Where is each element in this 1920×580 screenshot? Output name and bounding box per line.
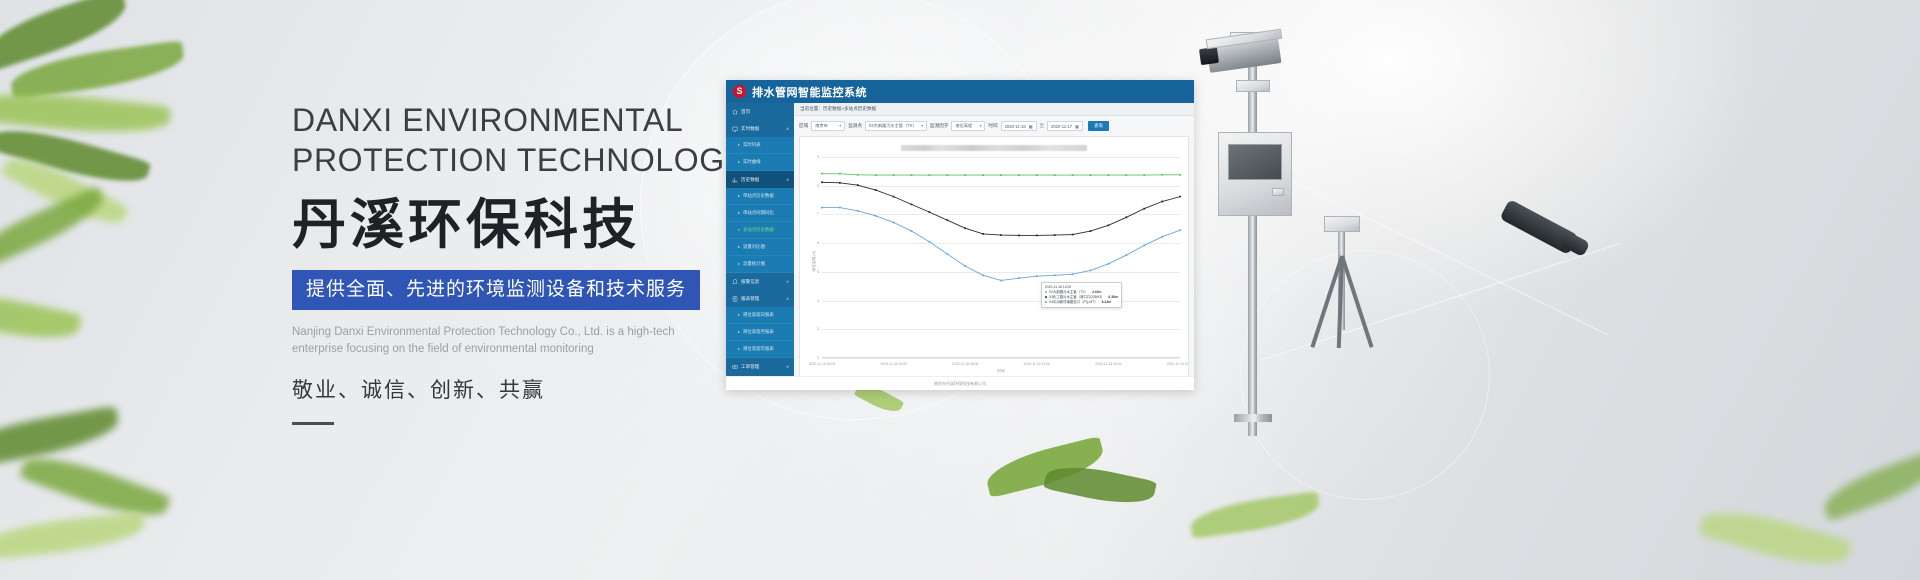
app-title: 排水管网智能监控系统 <box>752 84 867 100</box>
hero-tagline-banner: 提供全面、先进的环境监测设备和技术服务 <box>292 270 700 310</box>
sidebar-label: 报警信息 <box>741 279 759 285</box>
end-date-input[interactable]: 2020-11-17 ▦ <box>1047 121 1083 131</box>
calendar-icon: ▦ <box>1075 124 1079 129</box>
tooltip-row: 04中洲新村南路支口（PQ,MT）8.43m <box>1045 300 1118 305</box>
chart-data-point <box>1143 174 1145 176</box>
chart-data-point <box>911 174 913 176</box>
chart-data-point <box>964 174 966 176</box>
chart-y-tick-label: 5 <box>817 270 819 274</box>
chart-series-layer <box>822 157 1180 358</box>
chart-data-point <box>1125 216 1127 218</box>
tripod-leg <box>1340 255 1373 348</box>
chart-data-point <box>1000 174 1002 176</box>
station-label: 监测点 <box>848 123 862 129</box>
chart-data-point <box>1054 274 1056 276</box>
chart-data-point <box>1108 174 1110 176</box>
chart-data-point <box>1161 236 1163 238</box>
factor-value: 液位高程 <box>955 123 972 129</box>
chart-data-point <box>1072 234 1074 236</box>
chart-data-point <box>1018 234 1020 236</box>
chart-plot-area: 时间 234567892020-11-16 00:002020-11-16 04… <box>822 157 1180 358</box>
breadcrumb: 当前位置：历史数据>多站点历史数据 <box>794 103 1194 116</box>
calendar-icon: ▦ <box>1029 124 1033 129</box>
chart-data-point <box>1036 234 1038 236</box>
monitor-icon <box>732 126 738 132</box>
chart-data-point <box>982 233 984 235</box>
chart-data-point <box>1018 277 1020 279</box>
tooltip-series-dot <box>1045 291 1047 293</box>
chart-data-point <box>857 184 859 186</box>
sidebar-label: 历史数据 <box>741 177 759 183</box>
start-date-input[interactable]: 2020-11-16 ▦ <box>1001 121 1037 131</box>
chart-data-point <box>1036 275 1038 277</box>
hero-copy: DANXI ENVIRONMENTAL PROTECTION TECHNOLOG… <box>292 100 712 425</box>
chart-x-tick-label: 2020-11-16 16:00 <box>1095 362 1122 366</box>
chart-data-point <box>1161 201 1163 203</box>
time-label: 时间 <box>988 123 997 129</box>
chart-data-point <box>1054 234 1056 236</box>
chart-data-point <box>929 211 931 213</box>
sidebar-item-realtime-curve[interactable]: 实时曲线 <box>726 154 794 171</box>
bullet-icon <box>738 195 740 197</box>
chart-line-6aa8d8 <box>822 208 1180 281</box>
danxi-logo-icon: S <box>733 85 746 98</box>
chart-data-point <box>911 230 913 232</box>
chart-data-point <box>821 207 823 209</box>
sidebar-label: 流量对比图 <box>743 244 765 250</box>
chart-data-point <box>1143 245 1145 247</box>
chart-data-point <box>1072 273 1074 275</box>
chart-data-point <box>1125 174 1127 176</box>
factor-select[interactable]: 液位高程 ▾ <box>951 121 985 131</box>
chart-data-point <box>875 189 877 191</box>
region-value: 南京市 <box>815 123 828 129</box>
chart-data-point <box>893 222 895 224</box>
bullet-icon <box>738 263 740 265</box>
chart-data-point <box>946 174 948 176</box>
equipment-mast <box>1248 56 1257 436</box>
chevron-down-icon: ∨ <box>786 279 789 284</box>
tooltip-series-name: 04中洲新村南路支口（PQ,MT） <box>1049 300 1097 305</box>
bullet-icon <box>738 212 740 214</box>
chart-data-point <box>1161 174 1163 176</box>
sidebar-item-single-station-history[interactable]: 单站点历史数据 <box>726 188 794 205</box>
chart-data-point <box>929 174 931 176</box>
chart-data-point <box>964 265 966 267</box>
chart-x-axis-label: 时间 <box>997 369 1004 374</box>
chart-data-point <box>1108 224 1110 226</box>
sidebar-item-level-monthly-report[interactable]: 液位高程月报表 <box>726 324 794 341</box>
chart-data-point <box>1108 263 1110 265</box>
chart-tooltip: 2020-11-16 12:0002大新路污水主管（TX）4.42m03化工路污… <box>1041 282 1122 308</box>
sidebar-label: 报表管理 <box>741 296 759 302</box>
station-select[interactable]: 02大新路污水主管（TX） ▾ <box>865 121 927 131</box>
chart-data-point <box>821 173 823 175</box>
chart-x-tick-label: 2020-11-16 04:00 <box>880 362 907 366</box>
hero-divider-rule <box>292 422 334 425</box>
chart-data-point <box>1179 196 1181 198</box>
chart-data-point <box>1000 280 1002 282</box>
app-footer: 南京市丹溪环保科技有限公司 <box>726 376 1194 390</box>
sidebar-label: 多站点历史数据 <box>743 227 774 233</box>
sidebar-item-realtime-data[interactable]: 实时数据 ∧ <box>726 120 794 137</box>
chart-data-point <box>1090 174 1092 176</box>
sidebar-label: 液位高程月报表 <box>743 329 774 335</box>
report-icon <box>732 296 738 302</box>
chevron-down-icon: ▾ <box>839 124 841 128</box>
chevron-up-icon: ∧ <box>786 126 789 131</box>
sidebar-label: 单站点历史数据 <box>743 193 774 199</box>
chart-data-point <box>821 181 823 183</box>
chart-data-point <box>946 253 948 255</box>
mast-base <box>1234 414 1272 422</box>
chevron-up-icon: ∧ <box>786 296 789 301</box>
hero-chinese-title: 丹溪环保科技 <box>292 194 712 256</box>
chart-data-point <box>1090 230 1092 232</box>
chart-data-point <box>946 219 948 221</box>
bell-icon <box>732 279 738 285</box>
chart-y-tick-label: 7 <box>817 212 819 216</box>
chart-data-point <box>1090 270 1092 272</box>
sidebar-item-report-management[interactable]: 报表管理 ∧ <box>726 290 794 307</box>
search-button[interactable]: 查询 <box>1088 121 1109 131</box>
sidebar-item-work-order[interactable]: 工单管理 ∨ <box>726 358 794 375</box>
hero-english-paragraph: Nanjing Danxi Environmental Protection T… <box>292 324 682 358</box>
chart-data-point <box>875 215 877 217</box>
chart-x-tick-label: 2020-11-16 20:00 <box>1167 362 1189 366</box>
sidebar-label: 单站点同期同比 <box>743 210 774 216</box>
chart-data-point <box>964 227 966 229</box>
chart-y-tick-label: 2 <box>817 356 819 360</box>
chart-gridline: 2 <box>822 358 1180 359</box>
chevron-down-icon: ▾ <box>980 124 982 128</box>
date-separator: 至 <box>1040 123 1044 129</box>
sidebar-label: 实时数据 <box>741 126 759 132</box>
chart-data-point <box>893 196 895 198</box>
start-date-value: 2020-11-16 <box>1005 124 1026 129</box>
chart-y-tick-label: 8 <box>817 184 819 188</box>
sidebar-item-level-daily-report[interactable]: 液位高程日报表 <box>726 307 794 324</box>
sidebar-label: 液位高程年报表 <box>743 346 774 352</box>
home-icon <box>732 109 738 115</box>
chart-data-point <box>1179 229 1181 231</box>
bullet-icon <box>738 161 740 163</box>
app-content: 当前位置：历史数据>多站点历史数据 区域 南京市 ▾ 监测点 02大新路污水主管… <box>794 103 1194 390</box>
chart-data-point <box>893 174 895 176</box>
chart-icon <box>732 177 738 183</box>
tooltip-series-dot <box>1045 296 1047 298</box>
bullet-icon <box>738 314 740 316</box>
hero-slogan: 敬业、诚信、创新、共赢 <box>292 374 712 404</box>
chevron-down-icon: ▾ <box>921 124 923 128</box>
bullet-icon <box>738 229 740 231</box>
chart-title-redacted <box>901 145 1087 151</box>
chart-data-point <box>875 174 877 176</box>
chart-data-point <box>1143 208 1145 210</box>
mast-bracket-mid <box>1236 80 1270 92</box>
hero-english-line1: DANXI ENVIRONMENTAL <box>292 100 712 140</box>
chart-data-point <box>839 173 841 175</box>
region-select[interactable]: 南京市 ▾ <box>811 121 845 131</box>
tripod-head <box>1324 216 1360 232</box>
sidebar-item-history-data[interactable]: 历史数据 ∧ <box>726 171 794 188</box>
chart-data-point <box>857 174 859 176</box>
sidebar-label: 首页 <box>741 109 750 115</box>
sidebar-item-level-yearly-report[interactable]: 液位高程年报表 <box>726 341 794 358</box>
chart-data-point <box>839 207 841 209</box>
chart-data-point <box>1036 174 1038 176</box>
sidebar-item-multi-station-history[interactable]: 多站点历史数据 <box>726 222 794 239</box>
station-value: 02大新路污水主管（TX） <box>869 123 917 129</box>
sidebar-label: 实时列表 <box>743 142 761 148</box>
sidebar-label: 流量统计图 <box>743 261 765 267</box>
chart-y-axis-label: 液位高程(m) <box>812 250 817 271</box>
chart-data-point <box>982 274 984 276</box>
enclosure-display-screen <box>1228 144 1282 180</box>
chart-data-point <box>1000 234 1002 236</box>
chart-data-point <box>1018 174 1020 176</box>
sidebar-item-single-station-yoy[interactable]: 单站点同期同比 <box>726 205 794 222</box>
chart-data-point <box>857 210 859 212</box>
chevron-down-icon: ∨ <box>786 364 789 369</box>
hero-english-line2: PROTECTION TECHNOLOGY <box>292 140 712 180</box>
filter-toolbar: 区域 南京市 ▾ 监测点 02大新路污水主管（TX） ▾ 监测因子 液位高程 ▾… <box>794 116 1194 136</box>
chart-data-point <box>1072 174 1074 176</box>
chart-data-point <box>1125 254 1127 256</box>
chart-y-tick-label: 6 <box>817 241 819 245</box>
chart-data-point <box>982 174 984 176</box>
sidebar-nav[interactable]: 首页 实时数据 ∧ 实时列表 实时曲线 历史数据 ∧ <box>726 103 794 390</box>
sidebar-label: 工单管理 <box>741 364 759 370</box>
chart-y-tick-label: 3 <box>817 327 819 331</box>
bullet-icon <box>738 348 740 350</box>
chart-data-point <box>1179 174 1181 176</box>
monitoring-system-window: S 排水管网智能监控系统 首页 实时数据 ∧ 实时列表 实时曲线 <box>726 80 1194 390</box>
ticket-icon <box>732 364 738 370</box>
app-header: S 排水管网智能监控系统 <box>726 80 1194 103</box>
chart-y-tick-label: 9 <box>817 155 819 159</box>
sidebar-item-alarm-info[interactable]: 报警信息 ∨ <box>726 273 794 290</box>
chart-data-point <box>929 241 931 243</box>
chart-panel: 液位高程(m) 时间 234567892020-11-16 00:002020-… <box>799 136 1189 385</box>
monitoring-equipment-illustration <box>1200 20 1620 420</box>
chart-x-tick-label: 2020-11-16 12:00 <box>1024 362 1051 366</box>
chart-y-tick-label: 4 <box>817 299 819 303</box>
chevron-up-icon: ∧ <box>786 177 789 182</box>
chart-data-point <box>911 203 913 205</box>
bullet-icon <box>738 144 740 146</box>
tooltip-series-dot <box>1045 301 1047 303</box>
chart-x-tick-label: 2020-11-16 08:00 <box>952 362 979 366</box>
enclosure-latch <box>1272 188 1284 196</box>
sidebar-label: 液位高程日报表 <box>743 312 774 318</box>
sidebar-item-home[interactable]: 首页 <box>726 103 794 120</box>
tooltip-series-value: 8.43m <box>1102 300 1112 305</box>
factor-label: 监测因子 <box>930 123 948 129</box>
end-date-value: 2020-11-17 <box>1051 124 1072 129</box>
sidebar-label: 实时曲线 <box>743 159 761 165</box>
camera-lens <box>1199 47 1219 65</box>
bullet-icon <box>738 246 740 248</box>
sidebar-item-flow-statistics[interactable]: 流量统计图 <box>726 256 794 273</box>
sidebar-item-flow-compare[interactable]: 流量对比图 <box>726 239 794 256</box>
region-label: 区域 <box>799 123 808 129</box>
chart-x-tick-label: 2020-11-16 00:00 <box>809 362 836 366</box>
bullet-icon <box>738 331 740 333</box>
chart-data-point <box>1054 174 1056 176</box>
sidebar-item-realtime-list[interactable]: 实时列表 <box>726 137 794 154</box>
chart-data-point <box>839 182 841 184</box>
